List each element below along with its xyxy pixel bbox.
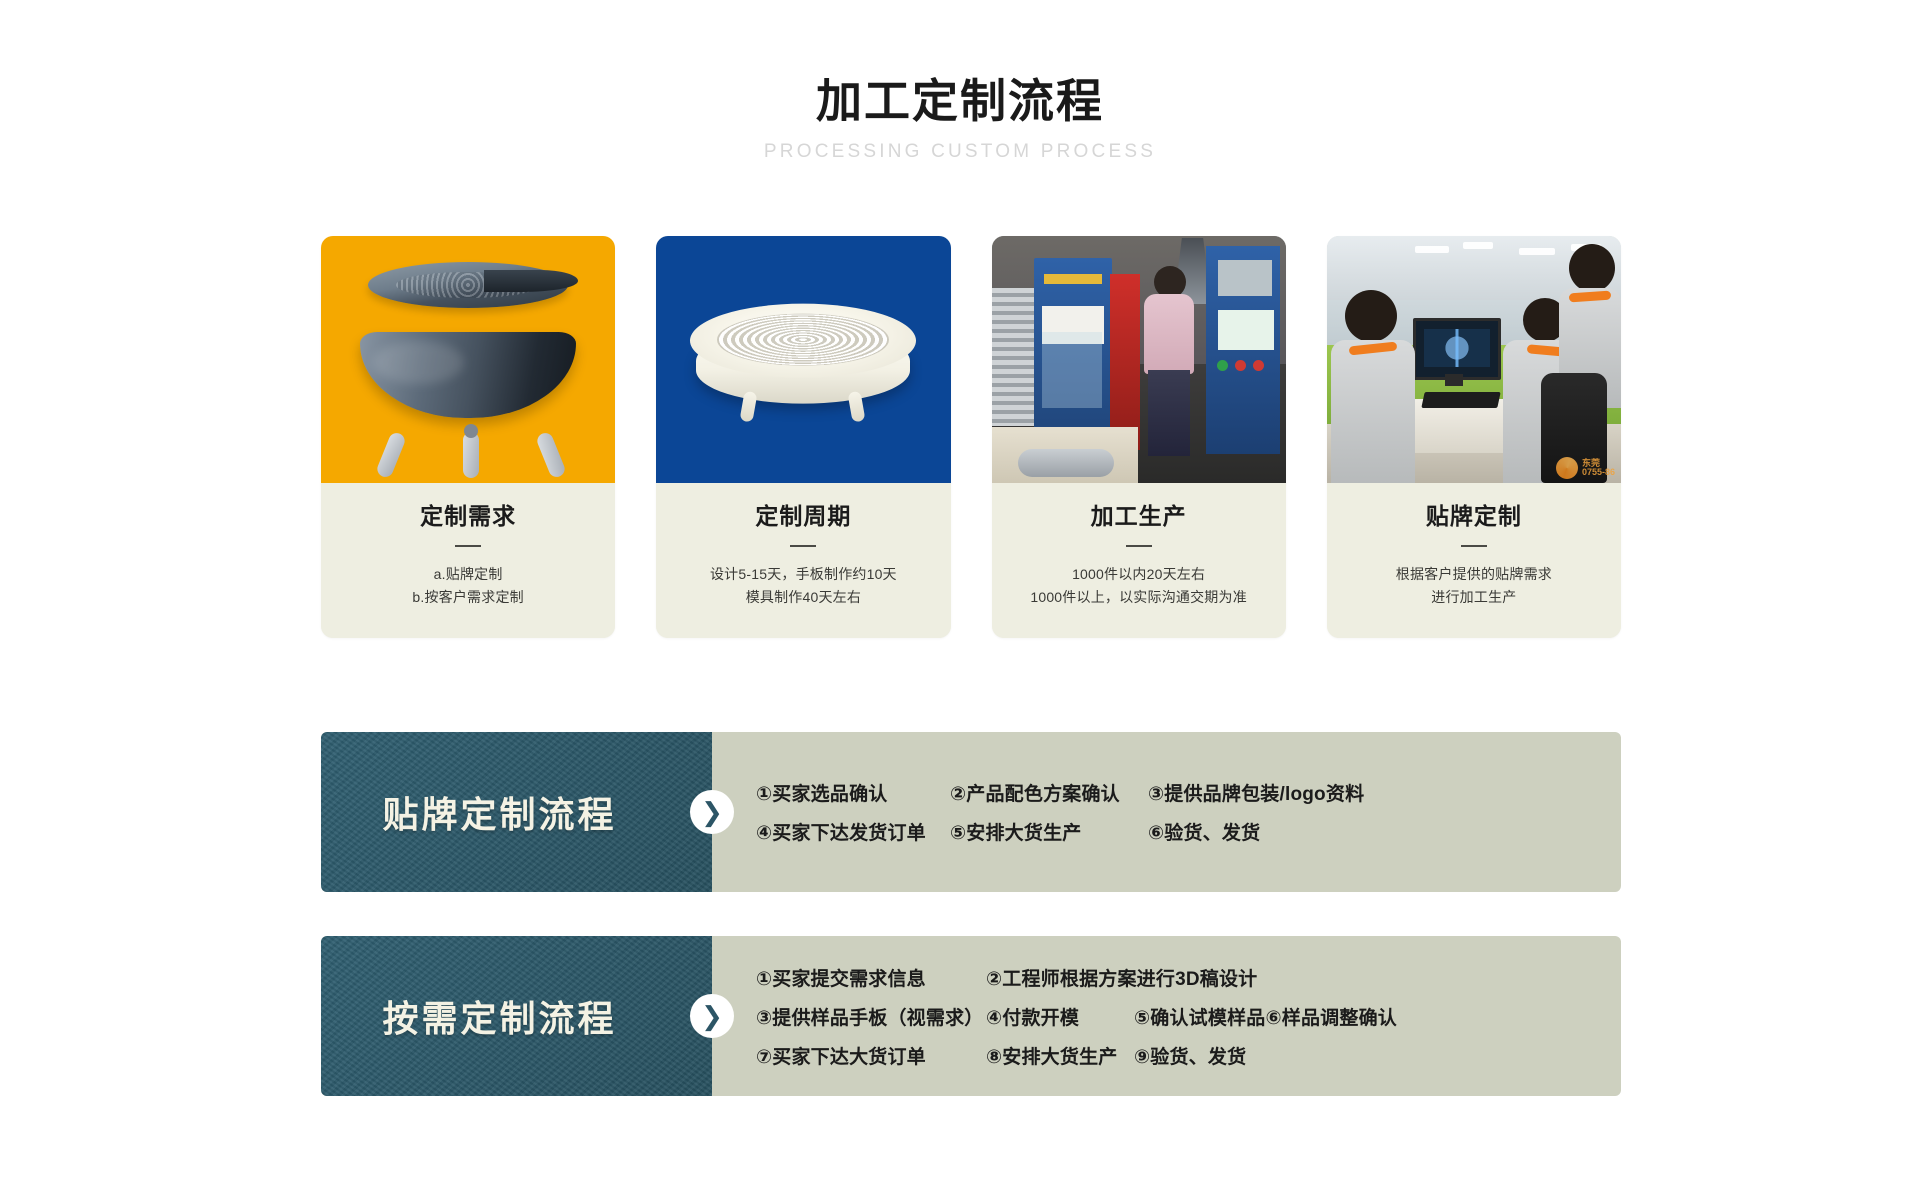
flow-banner-title: 贴牌定制流程 [382,786,650,838]
factory-worker-shirt [1144,294,1194,374]
card-description-line: 模具制作40天左右 [670,586,936,609]
factory-control-screen-lower [1218,310,1274,350]
flow-step: ⑨验货、发货 [1134,1042,1246,1069]
watermark-line: 0755-86 [1582,468,1615,477]
card-title: 定制周期 [670,505,936,528]
office-person-shirt-left [1331,340,1415,483]
product-leg-right [535,431,567,480]
card-title: 贴牌定制 [1341,505,1607,528]
card-description-line: 1000件以内20天左右 [1006,563,1272,586]
card-description-line: b.按客户需求定制 [335,586,601,609]
factory-button-green [1217,360,1228,371]
factory-machine-window [1042,332,1102,408]
page-subtitle: PROCESSING CUSTOM PROCESS [0,142,1920,161]
card-description-line: 设计5-15天，手板制作约10天 [670,563,936,586]
card-description: a.贴牌定制 b.按客户需求定制 [335,563,601,608]
flow-step: ⑥样品调整确认 [1266,1003,1398,1030]
flow-step-row: ①买家选品确认 ②产品配色方案确认 ③提供品牌包装/logo资料 [756,779,1601,806]
factory-button-red [1235,360,1246,371]
prototype-top [690,303,916,377]
factory-worker-pants [1148,370,1190,456]
flow-step: ⑥验货、发货 [1148,818,1260,845]
card-title: 加工生产 [1006,505,1272,528]
flow-banner-oem[interactable]: 贴牌定制流程 ❯ ①买家选品确认 ②产品配色方案确认 ③提供品牌包装/logo资… [321,732,1621,892]
flow-step: ⑤确认试模样品 [1134,1003,1266,1030]
card-body: 贴牌定制 根据客户提供的贴牌需求 进行加工生产 [1327,483,1621,638]
card-title: 定制需求 [335,505,601,528]
card-divider [1126,545,1152,547]
office-monitor [1413,318,1501,380]
card-image-white-prototype [656,236,950,483]
flow-step: ④买家下达发货订单 [756,818,950,845]
factory-red-column [1110,274,1140,450]
product-leg-center [463,432,479,478]
flow-banner-title: 按需定制流程 [382,990,650,1042]
factory-molded-part [1018,449,1114,477]
office-light [1519,248,1555,255]
flow-step: ①买家选品确认 [756,779,950,806]
process-card-list: 定制需求 a.贴牌定制 b.按客户需求定制 定制周期 [321,236,1621,638]
process-infographic: 加工定制流程 PROCESSING CUSTOM PROCESS 定制需求 a.… [0,0,1920,1200]
card-body: 定制需求 a.贴牌定制 b.按客户需求定制 [321,483,615,638]
watermark-text: 东莞 0755-86 [1582,459,1615,478]
office-keyboard [1421,392,1500,408]
card-image-factory [992,236,1286,483]
office-monitor-stand [1445,374,1463,386]
prototype-shape [690,299,916,415]
flow-step: ②工程师根据方案进行3D稿设计 [986,964,1257,991]
page-title: 加工定制流程 [0,78,1920,124]
card-description-line: 进行加工生产 [1341,586,1607,609]
card-description-line: 1000件以上，以实际沟通交期为准 [1006,586,1272,609]
process-card-oem[interactable]: 东莞 0755-86 贴牌定制 根据客户提供的贴牌需求 进行加工生产 [1327,236,1621,638]
flow-step: ①买家提交需求信息 [756,964,986,991]
flow-step-list-oem: ①买家选品确认 ②产品配色方案确认 ③提供品牌包装/logo资料 ④买家下达发货… [712,732,1621,892]
card-divider [455,545,481,547]
flow-step-row: ③提供样品手板（视需求） ④付款开模 ⑤确认试模样品 ⑥样品调整确认 [756,1003,1601,1030]
flow-step: ②产品配色方案确认 [950,779,1148,806]
card-description: 设计5-15天，手板制作约10天 模具制作40天左右 [670,563,936,608]
card-body: 加工生产 1000件以内20天左右 1000件以上，以实际沟通交期为准 [992,483,1286,638]
office-light [1463,242,1493,249]
chevron-right-icon[interactable]: ❯ [690,994,734,1038]
flow-step: ③提供品牌包装/logo资料 [1148,779,1364,806]
header: 加工定制流程 PROCESSING CUSTOM PROCESS [0,78,1920,161]
card-description-line: a.贴牌定制 [335,563,601,586]
card-divider [790,545,816,547]
flow-step-list-on-demand: ①买家提交需求信息 ②工程师根据方案进行3D稿设计 ③提供样品手板（视需求） ④… [712,936,1621,1096]
factory-button-red [1253,360,1264,371]
flow-banner-label-on-demand: 按需定制流程 ❯ [321,936,712,1096]
flow-step: ④付款开模 [986,1003,1134,1030]
product-leg-left [375,431,407,480]
office-person-head-right [1569,244,1615,292]
flow-banner-label-oem: 贴牌定制流程 ❯ [321,732,712,892]
card-description-line: 根据客户提供的贴牌需求 [1341,563,1607,586]
flow-step: ⑤安排大货生产 [950,818,1148,845]
card-image-exploded-product [321,236,615,483]
process-card-custom-cycle[interactable]: 定制周期 设计5-15天，手板制作约10天 模具制作40天左右 [656,236,950,638]
factory-parts-stack [992,288,1036,426]
office-person-head-left [1345,290,1397,342]
flow-banner-on-demand[interactable]: 按需定制流程 ❯ ①买家提交需求信息 ②工程师根据方案进行3D稿设计 ③提供样品… [321,936,1621,1096]
flow-step-row: ④买家下达发货订单 ⑤安排大货生产 ⑥验货、发货 [756,818,1601,845]
office-watermark: 东莞 0755-86 [1556,457,1615,479]
card-body: 定制周期 设计5-15天，手板制作约10天 模具制作40天左右 [656,483,950,638]
flow-step: ⑦买家下达大货订单 [756,1042,986,1069]
card-description: 1000件以内20天左右 1000件以上，以实际沟通交期为准 [1006,563,1272,608]
factory-control-screen-upper [1218,260,1272,296]
office-light [1415,246,1449,253]
product-bowl-shape [360,332,576,418]
card-description: 根据客户提供的贴牌需求 进行加工生产 [1341,563,1607,608]
process-card-production[interactable]: 加工生产 1000件以内20天左右 1000件以上，以实际沟通交期为准 [992,236,1286,638]
flow-step-row: ⑦买家下达大货订单 ⑧安排大货生产 ⑨验货、发货 [756,1042,1601,1069]
chevron-right-icon[interactable]: ❯ [690,790,734,834]
process-card-custom-demand[interactable]: 定制需求 a.贴牌定制 b.按客户需求定制 [321,236,615,638]
card-divider [1461,545,1487,547]
card-image-office: 东莞 0755-86 [1327,236,1621,483]
flow-step: ③提供样品手板（视需求） [756,1003,986,1030]
flow-step: ⑧安排大货生产 [986,1042,1134,1069]
watermark-logo-icon [1556,457,1578,479]
flow-step-row: ①买家提交需求信息 ②工程师根据方案进行3D稿设计 [756,964,1601,991]
